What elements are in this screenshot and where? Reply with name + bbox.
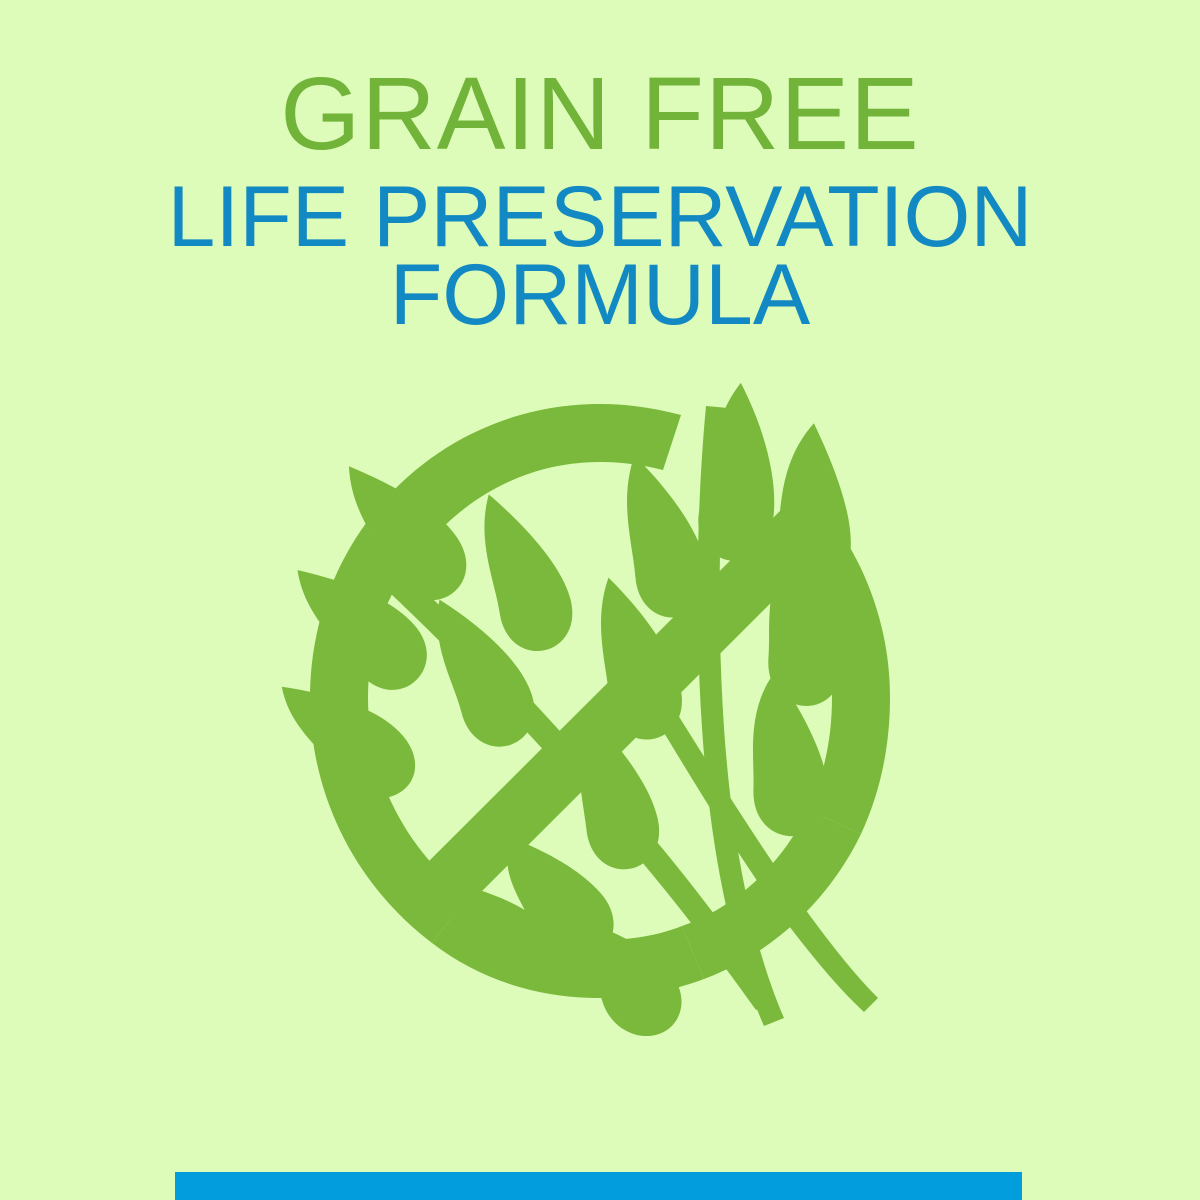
product-feature-panel: GRAIN FREE LIFE PRESERVATION FORMULA [0, 0, 1200, 1200]
grain-free-no-symbol-icon [270, 378, 930, 1058]
headline-line-formula: FORMULA [0, 252, 1200, 338]
headline-line-grain-free: GRAIN FREE [0, 62, 1200, 165]
bottom-accent-bar [175, 1172, 1022, 1200]
